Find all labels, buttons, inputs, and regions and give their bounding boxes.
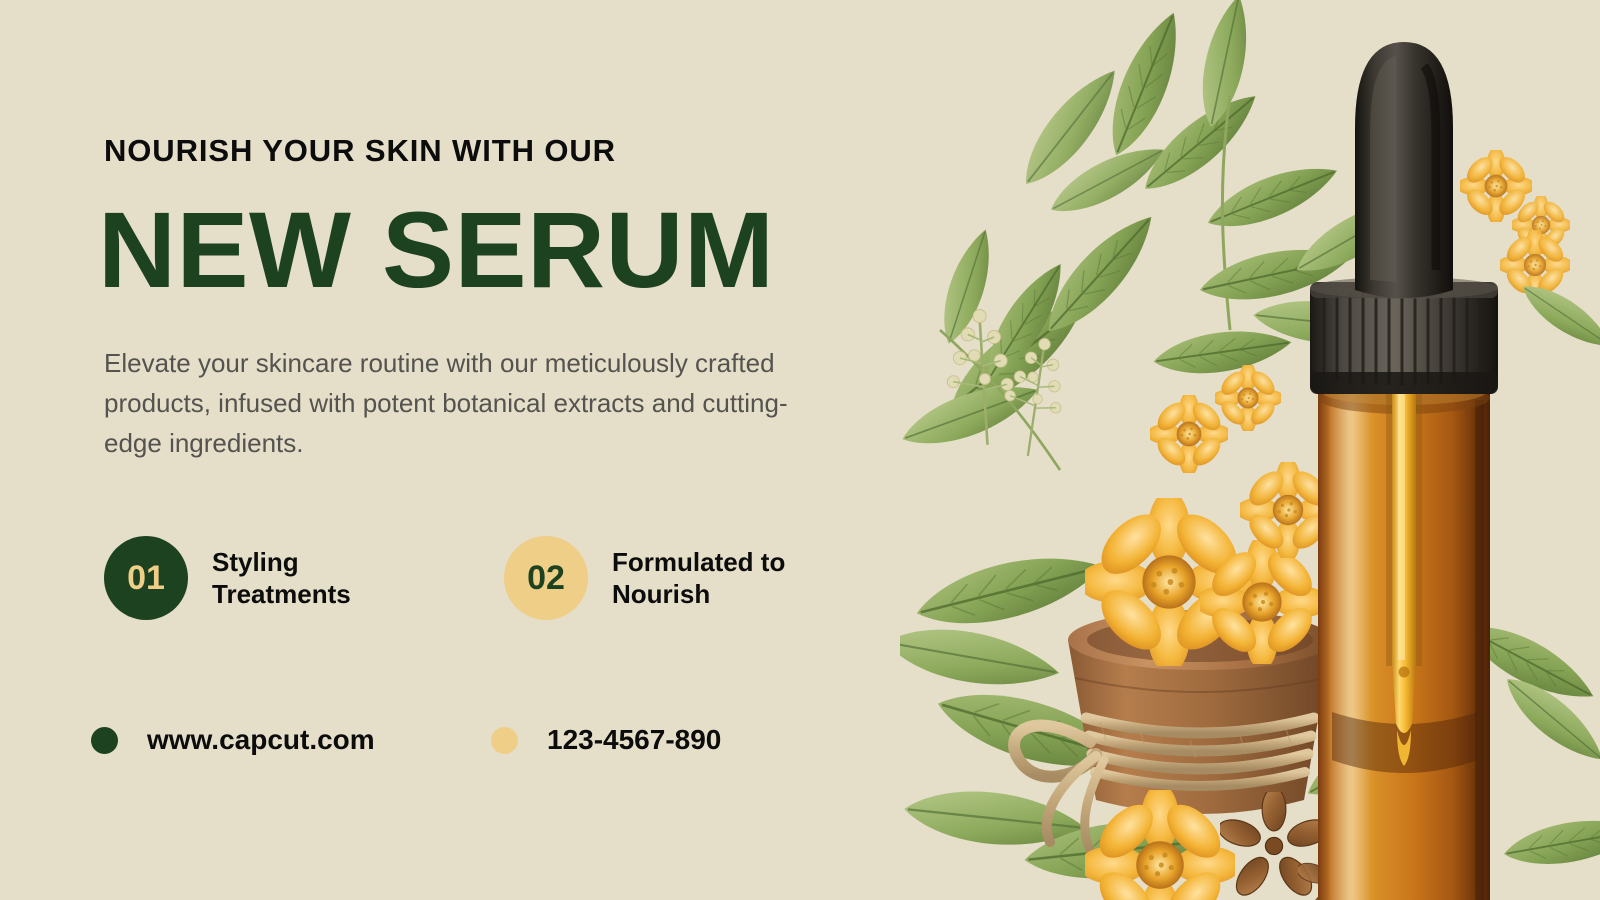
feature-item-01[interactable]: 01 Styling Treatments <box>104 536 504 620</box>
feature-number-badge-02: 02 <box>504 536 588 620</box>
feature-label-02: Formulated to Nourish <box>612 546 785 610</box>
black-rubber-bulb-cap <box>1355 42 1453 298</box>
page-title: NEW SERUM <box>98 196 775 304</box>
hero-content: NOURISH YOUR SKIN WITH OUR NEW SERUM Ele… <box>104 0 964 900</box>
bullet-dot-icon <box>491 727 518 754</box>
contact-website-text: www.capcut.com <box>147 724 375 756</box>
description-text: Elevate your skincare routine with our m… <box>104 343 816 463</box>
serum-bottle-botanical-illustration <box>900 0 1600 900</box>
feature-label-01: Styling Treatments <box>212 546 351 610</box>
contact-phone[interactable]: 123-4567-890 <box>491 724 721 756</box>
feature-number-badge-01: 01 <box>104 536 188 620</box>
feature-list: 01 Styling Treatments 02 Formulated to N… <box>104 536 904 620</box>
contact-website[interactable]: www.capcut.com <box>91 724 491 756</box>
serum-promo-banner: NOURISH YOUR SKIN WITH OUR NEW SERUM Ele… <box>0 0 1600 900</box>
feature-item-02[interactable]: 02 Formulated to Nourish <box>504 536 904 620</box>
bullet-dot-icon <box>91 727 118 754</box>
contact-phone-text: 123-4567-890 <box>547 724 721 756</box>
contact-bar: www.capcut.com 123-4567-890 <box>91 724 721 756</box>
front-accent-blooms <box>1497 227 1600 358</box>
eyebrow-text: NOURISH YOUR SKIN WITH OUR <box>104 133 616 169</box>
